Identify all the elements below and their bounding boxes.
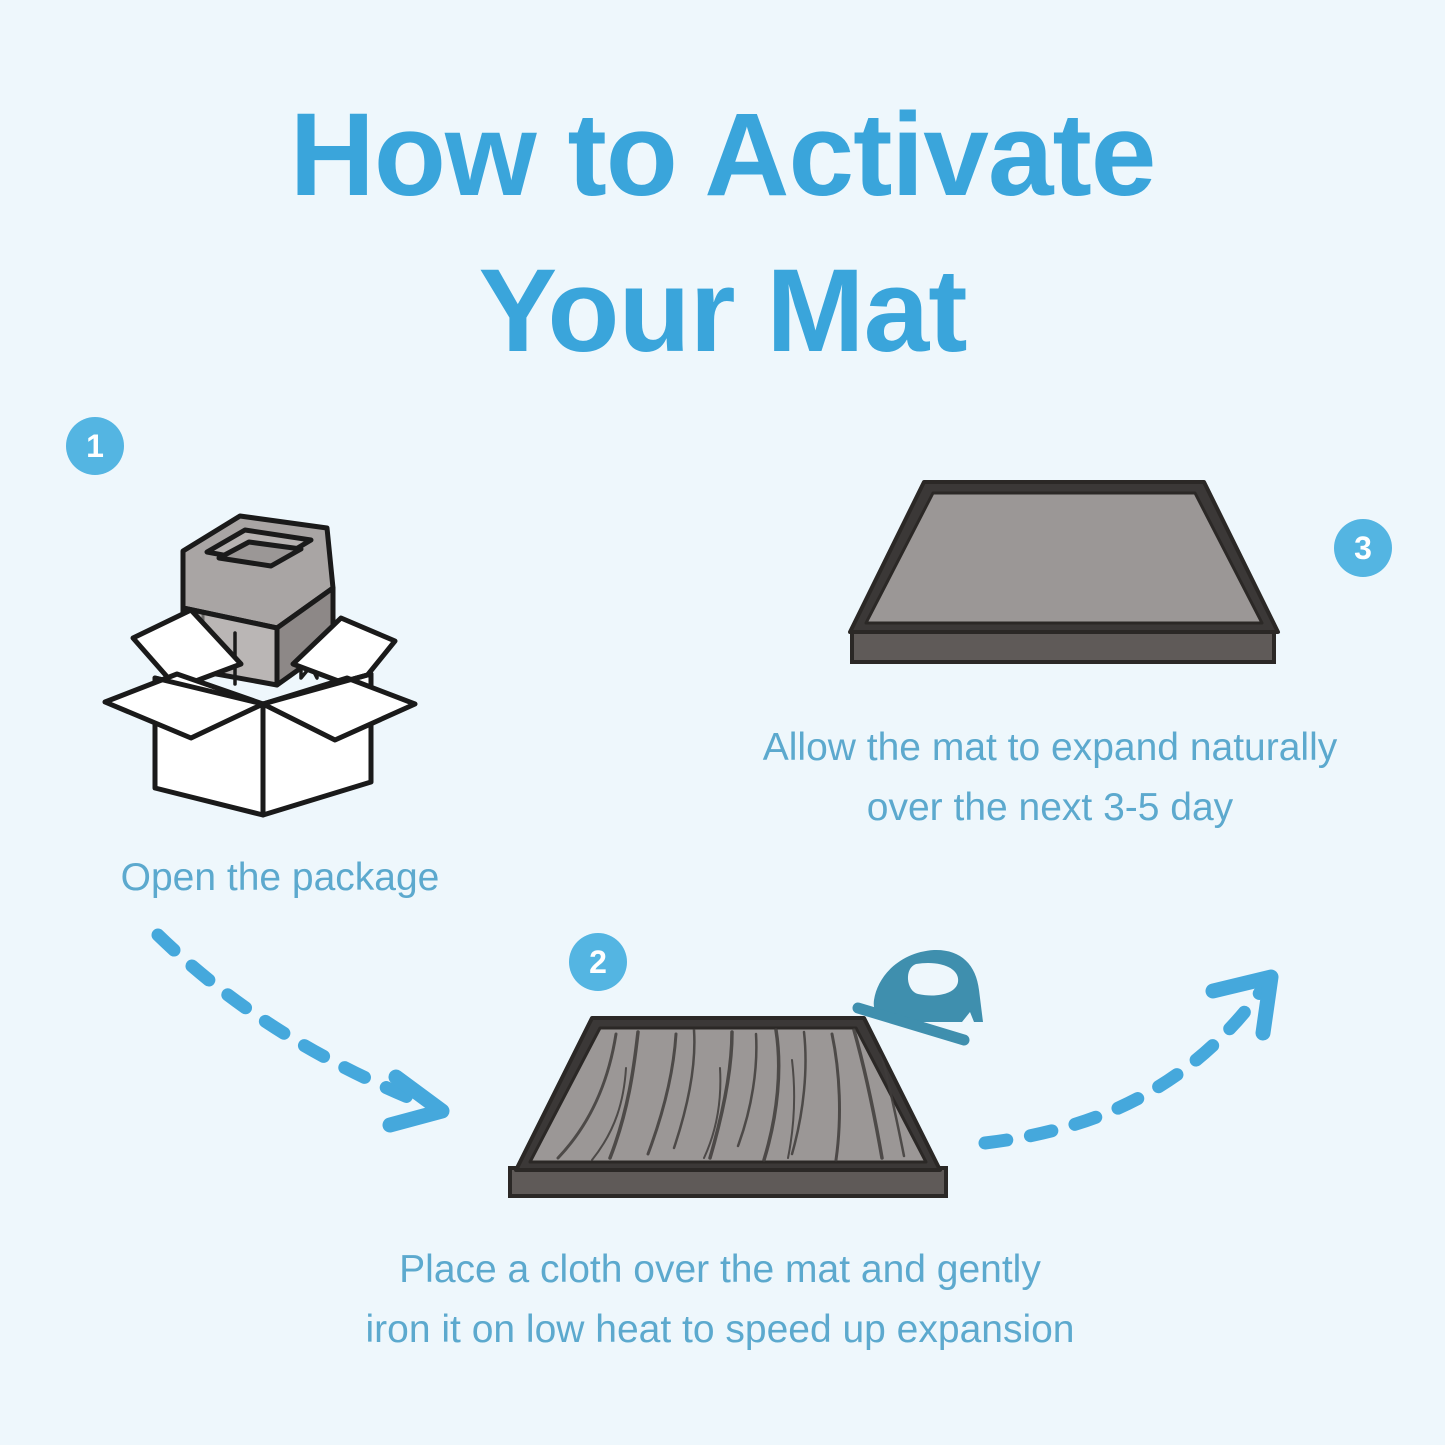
arrow-step1-to-step2 — [150, 925, 480, 1140]
page-title-line-2: Your Mat — [0, 234, 1445, 390]
step-badge-1: 1 — [66, 417, 124, 475]
page-title: How to Activate Your Mat — [0, 78, 1445, 390]
cardboard-box-icon — [95, 488, 435, 818]
floor-mat-icon-expanded — [838, 472, 1288, 672]
infographic-page: How to Activate Your Mat 1 — [0, 0, 1445, 1445]
step-1-caption-line-1: Open the package — [20, 848, 540, 908]
step-3-caption-line-2: over the next 3-5 day — [676, 778, 1424, 838]
arrow-step2-to-step3 — [975, 955, 1295, 1165]
step-badge-3: 3 — [1334, 519, 1392, 577]
step-3-caption: Allow the mat to expand naturally over t… — [676, 718, 1424, 839]
step-2-caption-line-1: Place a cloth over the mat and gently — [250, 1240, 1190, 1300]
step-3-caption-line-1: Allow the mat to expand naturally — [676, 718, 1424, 778]
step-2-caption: Place a cloth over the mat and gently ir… — [250, 1240, 1190, 1361]
step-2-caption-line-2: iron it on low heat to speed up expansio… — [250, 1300, 1190, 1360]
step-1-caption: Open the package — [20, 848, 540, 908]
step-badge-2: 2 — [569, 933, 627, 991]
floor-mat-icon-with-cloth — [488, 1008, 968, 1223]
page-title-line-1: How to Activate — [0, 78, 1445, 234]
